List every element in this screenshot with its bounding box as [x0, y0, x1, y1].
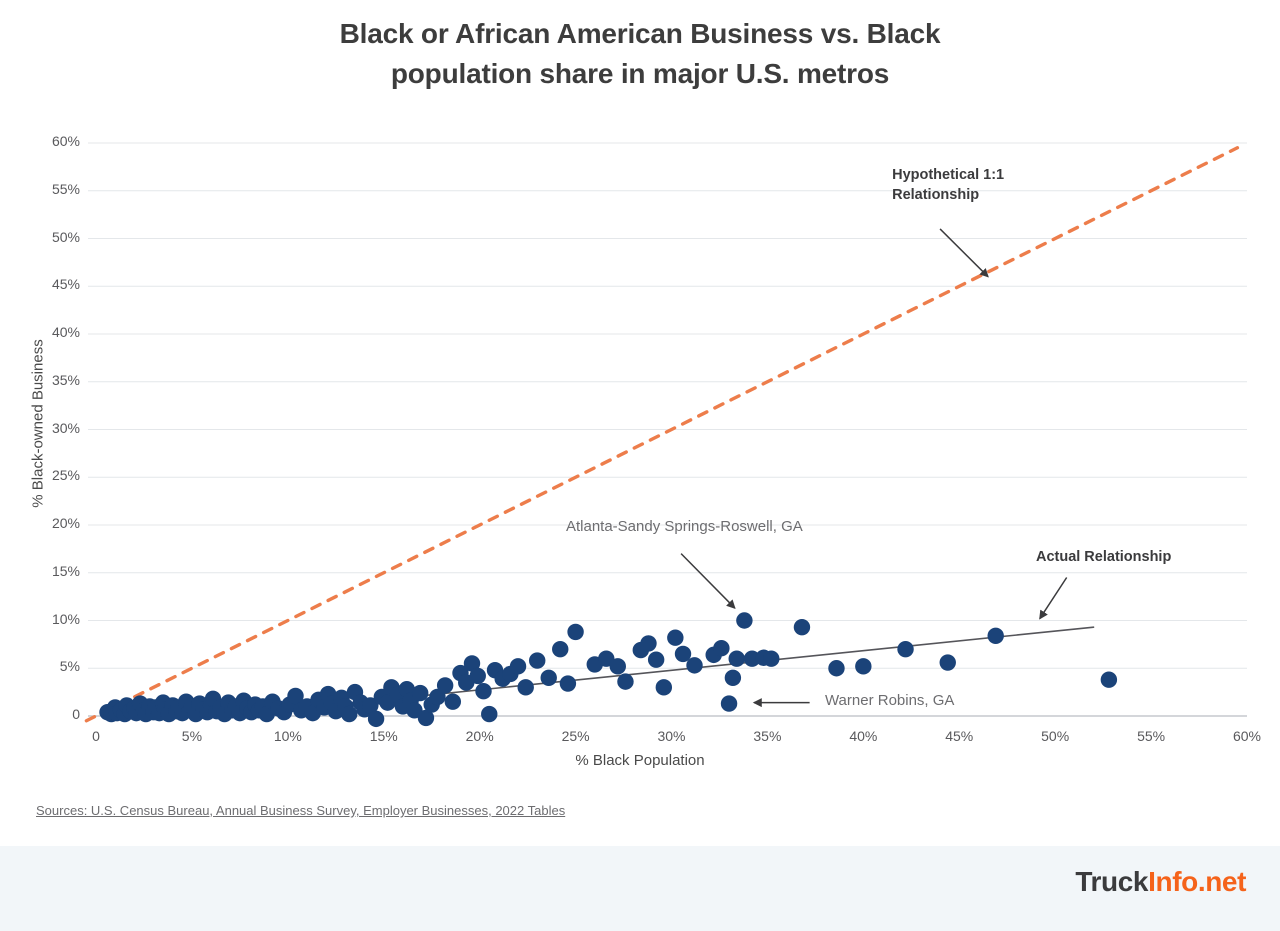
annotation-warner-robins-ga: Warner Robins, GA [825, 692, 955, 709]
y-tick-label: 15% [20, 563, 80, 579]
y-tick-label: 20% [20, 515, 80, 531]
y-tick-label: 30% [20, 420, 80, 436]
y-tick-label: 50% [20, 229, 80, 245]
annotation-atlanta-sandy-springs-roswell-ga: Atlanta-Sandy Springs-Roswell, GA [566, 518, 803, 535]
annotation-hypothetical-1-1-relationship: Hypothetical 1:1Relationship [892, 167, 1004, 203]
x-tick-label: 45% [919, 728, 999, 744]
site-logo[interactable]: TruckInfo.net [1075, 866, 1246, 898]
y-tick-label: 60% [20, 133, 80, 149]
annotation-text-line-1: Hypothetical 1:1 [892, 167, 1004, 183]
x-tick-label: 50% [1015, 728, 1095, 744]
y-tick-label: 5% [20, 658, 80, 674]
y-tick-label: 25% [20, 467, 80, 483]
x-tick-label: 25% [536, 728, 616, 744]
scatter-plot [0, 0, 1280, 846]
x-tick-label: 30% [632, 728, 712, 744]
x-tick-label: 55% [1111, 728, 1191, 744]
x-tick-label: 15% [344, 728, 424, 744]
logo-primary-text: Truck [1075, 866, 1148, 897]
annotation-text-line-1: Actual Relationship [1036, 549, 1171, 565]
annotation-arrows [681, 229, 1067, 703]
x-tick-label: 35% [727, 728, 807, 744]
footer-bar: TruckInfo.net [0, 846, 1280, 931]
annotation-text-line-1: Warner Robins, GA [825, 692, 955, 709]
reference-lines [86, 148, 1237, 721]
data-points [99, 612, 1117, 727]
y-tick-label: 0 [20, 706, 80, 722]
y-tick-label: 10% [20, 611, 80, 627]
y-tick-label: 45% [20, 276, 80, 292]
x-tick-label: 60% [1207, 728, 1280, 744]
x-tick-label: 10% [248, 728, 328, 744]
x-tick-label: 20% [440, 728, 520, 744]
source-note: Sources: U.S. Census Bureau, Annual Busi… [36, 803, 565, 818]
x-tick-label: 0 [56, 728, 136, 744]
chart-container: Black or African American Business vs. B… [0, 0, 1280, 846]
annotation-actual-relationship: Actual Relationship [1036, 549, 1171, 565]
annotation-text-line-1: Atlanta-Sandy Springs-Roswell, GA [566, 518, 803, 535]
y-tick-label: 40% [20, 324, 80, 340]
x-tick-label: 5% [152, 728, 232, 744]
y-tick-label: 35% [20, 372, 80, 388]
logo-accent-text: Info.net [1148, 866, 1246, 897]
x-tick-label: 40% [823, 728, 903, 744]
y-tick-label: 55% [20, 181, 80, 197]
annotation-text-line-2: Relationship [892, 187, 1004, 203]
